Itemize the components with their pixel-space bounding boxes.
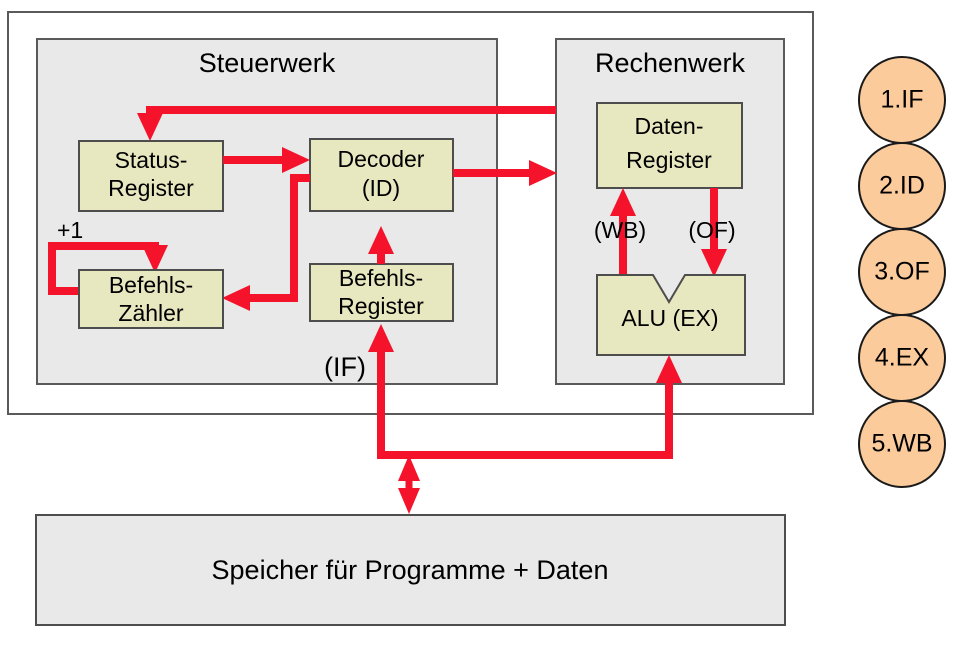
data-register-label-line1: Daten- <box>634 113 703 139</box>
program-counter-label-line2: Zähler <box>118 300 184 326</box>
instruction-register-label-line2: Register <box>338 293 424 319</box>
operand-fetch-label: (OF) <box>688 217 735 243</box>
writeback-label: (WB) <box>594 217 646 243</box>
control-unit-title: Steuerwerk <box>199 48 336 78</box>
pipeline-stages: 1.IF 2.ID 3.OF 4.EX 5.WB <box>859 57 945 487</box>
program-counter-label-line1: Befehls- <box>109 272 193 298</box>
instruction-register-label-line1: Befehls- <box>339 265 423 291</box>
cpu-block-diagram: Steuerwerk Rechenwerk Status- Register D… <box>0 0 959 649</box>
stage-ex-label: 4.EX <box>875 344 930 372</box>
stage-of-label: 3.OF <box>874 258 930 286</box>
decoder-label-line1: Decoder <box>338 146 425 172</box>
increment-label: +1 <box>57 217 83 243</box>
flow-memory-bidirectional-arrow <box>398 455 420 514</box>
instruction-fetch-phase-label: (IF) <box>324 352 366 382</box>
stage-if-label: 1.IF <box>880 86 923 114</box>
status-register-label-line2: Register <box>108 175 194 201</box>
status-register-label-line1: Status- <box>115 147 188 173</box>
memory-label: Speicher für Programme + Daten <box>212 555 609 585</box>
stage-id-label: 2.ID <box>879 172 925 200</box>
decoder-label-line2: (ID) <box>362 175 400 201</box>
arithmetic-unit-title: Rechenwerk <box>595 48 746 78</box>
alu-label: ALU (EX) <box>621 305 718 331</box>
diagram-canvas: Steuerwerk Rechenwerk Status- Register D… <box>0 0 959 649</box>
data-register-label-line2: Register <box>626 147 712 173</box>
stage-wb-label: 5.WB <box>871 430 932 458</box>
